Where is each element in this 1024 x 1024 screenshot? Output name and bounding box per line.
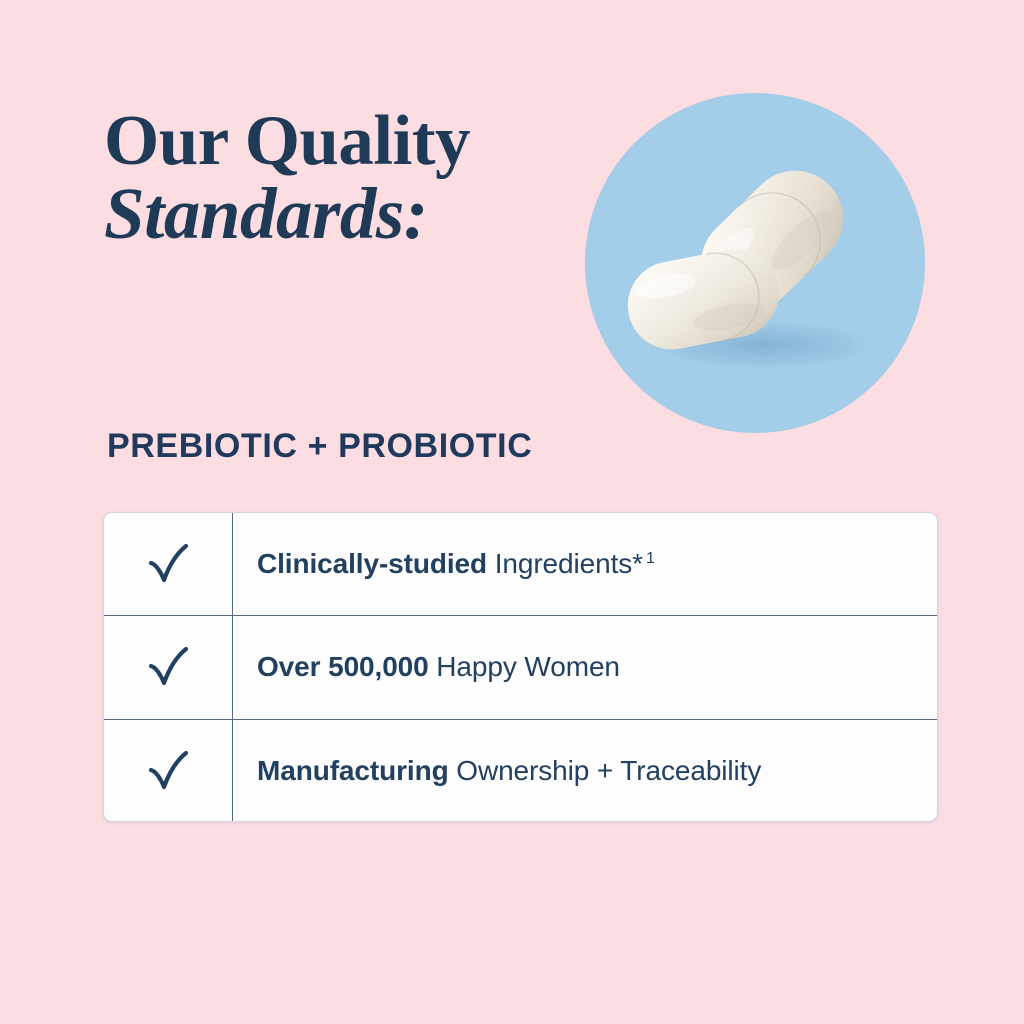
checkmark-icon bbox=[145, 644, 191, 690]
quality-standards-table: Clinically-studied Ingredients*1 Over 50… bbox=[103, 512, 938, 822]
page-title-line-1: Our Quality bbox=[104, 106, 574, 176]
row-label-superscript: 1 bbox=[646, 550, 655, 567]
check-cell bbox=[104, 513, 233, 615]
row-label-regular: Happy Women bbox=[429, 651, 620, 682]
capsules-illustration bbox=[585, 93, 925, 433]
checkmark-icon bbox=[145, 541, 191, 587]
page-title: Our Quality Standards: bbox=[104, 106, 574, 251]
table-row: Manufacturing Ownership + Traceability bbox=[104, 720, 937, 822]
row-label: Over 500,000 Happy Women bbox=[233, 651, 937, 683]
eyebrow-label: PREBIOTIC + PROBIOTIC bbox=[107, 427, 532, 466]
row-label-bold: Manufacturing bbox=[257, 755, 449, 786]
row-label: Clinically-studied Ingredients*1 bbox=[233, 548, 937, 580]
page-canvas: Our Quality Standards: PREBIOTIC + PROBI… bbox=[0, 0, 1024, 1024]
checkmark-icon bbox=[145, 748, 191, 794]
check-cell bbox=[104, 720, 233, 822]
row-label: Manufacturing Ownership + Traceability bbox=[233, 755, 937, 787]
table-row: Clinically-studied Ingredients*1 bbox=[104, 513, 937, 616]
check-cell bbox=[104, 616, 233, 718]
table-row: Over 500,000 Happy Women bbox=[104, 616, 937, 719]
row-label-bold: Clinically-studied bbox=[257, 548, 487, 579]
row-label-regular: Ownership + Traceability bbox=[449, 755, 762, 786]
product-image-circle bbox=[585, 93, 925, 433]
row-label-bold: Over 500,000 bbox=[257, 651, 429, 682]
row-label-regular: Ingredients* bbox=[487, 548, 643, 579]
page-title-line-2: Standards: bbox=[104, 178, 574, 250]
